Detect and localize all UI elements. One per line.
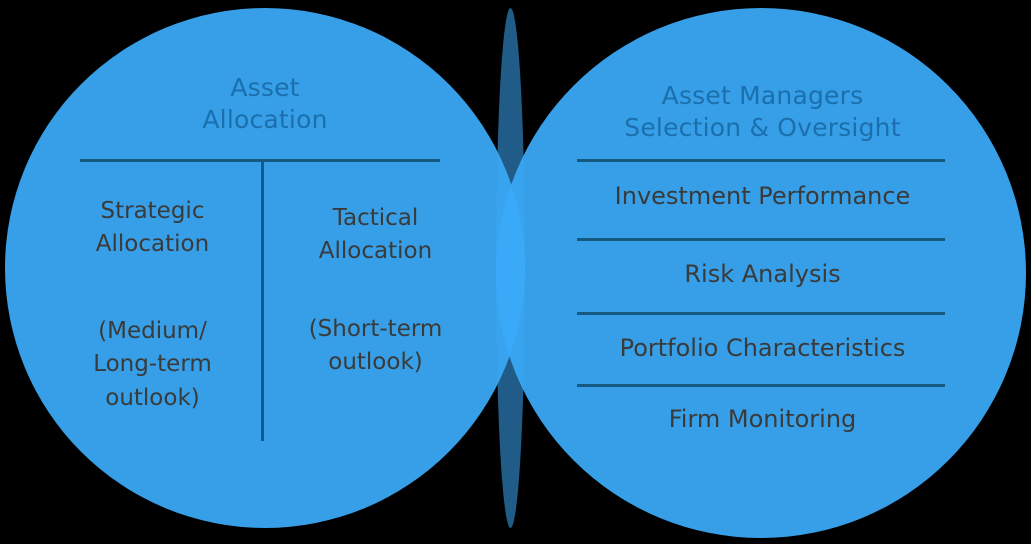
right-circle-heading: Asset Managers Selection & Oversight [560,80,965,144]
strategic-allocation-note: (Medium/ Long-term outlook) [55,315,250,415]
tactical-allocation-note-line1: (Short-term [278,313,473,346]
left-circle-heading: Asset Allocation [65,72,465,136]
right-circle-divider-2 [577,238,945,241]
tactical-allocation-title-line2: Allocation [278,235,473,268]
strategic-allocation-title: Strategic Allocation [55,195,250,262]
list-item: Risk Analysis [560,260,965,289]
list-item: Portfolio Characteristics [560,334,965,363]
tactical-allocation-note-line2: outlook) [278,346,473,379]
tactical-allocation-note: (Short-term outlook) [278,313,473,380]
right-circle-heading-line1: Asset Managers [560,80,965,112]
right-circle-divider-1 [577,159,945,162]
diagram-canvas: Asset Allocation Strategic Allocation (M… [0,0,1031,544]
strategic-allocation-note-line2: Long-term [55,348,250,381]
list-item: Investment Performance [560,182,965,211]
tactical-allocation-title-line1: Tactical [278,202,473,235]
strategic-allocation-note-line1: (Medium/ [55,315,250,348]
list-item: Firm Monitoring [560,405,965,434]
strategic-allocation-title-line1: Strategic [55,195,250,228]
left-circle-vertical-divider [261,161,264,441]
left-circle-heading-line2: Allocation [65,104,465,136]
right-circle-divider-4 [577,384,945,387]
tactical-allocation-title: Tactical Allocation [278,202,473,269]
left-circle-heading-line1: Asset [65,72,465,104]
right-circle-heading-line2: Selection & Oversight [560,112,965,144]
strategic-allocation-note-line3: outlook) [55,382,250,415]
left-circle-horizontal-divider [80,159,440,162]
right-circle-divider-3 [577,312,945,315]
strategic-allocation-title-line2: Allocation [55,228,250,261]
